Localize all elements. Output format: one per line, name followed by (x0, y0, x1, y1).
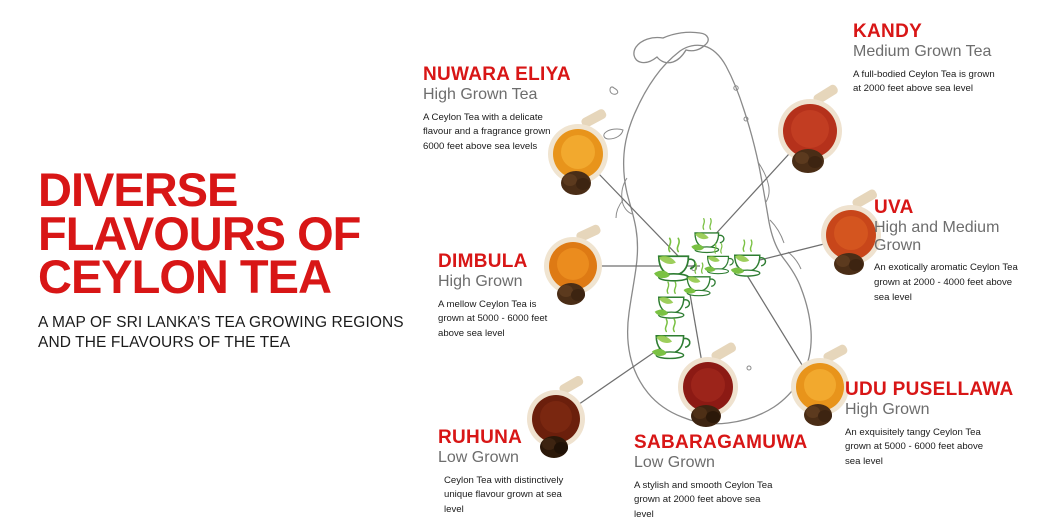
desc-line: 6000 feet above sea levels (423, 141, 537, 152)
desc-line: grown at 5000 - 6000 feet above (845, 441, 983, 452)
desc-line: A Ceylon Tea with a delicate (423, 112, 543, 123)
region-grown-dimbula: High Grown (438, 273, 598, 291)
region-label-nuwara-eliya: NUWARA ELIYA High Grown Tea A Ceylon Tea… (423, 65, 598, 155)
region-desc-sabaragamuwa: A stylish and smooth Ceylon Tea grown at… (634, 479, 819, 524)
desc-line: A full-bodied Ceylon Tea is grown (853, 69, 995, 80)
region-name-ruhuna: RUHUNA (438, 428, 608, 448)
connector-nuwara-eliya (597, 172, 680, 258)
region-name-nuwara-eliya: NUWARA ELIYA (423, 65, 598, 85)
growing-marker (654, 238, 695, 281)
region-name-dimbula: DIMBULA (438, 252, 598, 272)
region-label-ruhuna: RUHUNA Low Grown Ceylon Tea with distinc… (438, 428, 608, 518)
region-name-sabaragamuwa: SABARAGAMUWA (634, 433, 819, 453)
desc-line: grown at 5000 - 6000 feet (438, 313, 547, 324)
region-name-kandy: KANDY (853, 22, 1043, 42)
desc-line: level (444, 504, 464, 515)
desc-line: An exotically aromatic Ceylon Tea (874, 262, 1018, 273)
desc-line: flavour and a fragrance grown (423, 126, 550, 137)
tea-growing-markers (652, 219, 766, 359)
region-desc-uva: An exotically aromatic Ceylon Tea grown … (874, 261, 1044, 306)
region-grown-ruhuna: Low Grown (438, 449, 608, 467)
region-label-sabaragamuwa: SABARAGAMUWA Low Grown A stylish and smo… (634, 433, 819, 523)
tea-cup-kandy[interactable] (778, 83, 842, 173)
desc-line: level (634, 509, 654, 520)
region-label-dimbula: DIMBULA High Grown A mellow Ceylon Tea i… (438, 252, 598, 342)
region-desc-kandy: A full-bodied Ceylon Tea is grown at 200… (853, 68, 1043, 98)
region-name-uva: UVA (874, 198, 1044, 218)
desc-line: sea level (845, 456, 883, 467)
desc-line: A stylish and smooth Ceylon Tea (634, 480, 772, 491)
region-grown-kandy: Medium Grown Tea (853, 43, 1043, 61)
desc-line: sea level (874, 292, 912, 303)
tea-cup-uva[interactable] (821, 188, 881, 275)
region-grown-uva: High and Medium Grown (874, 219, 1044, 254)
tea-cup-udu-pusellawa[interactable] (791, 343, 849, 426)
grown-line: Grown (874, 237, 921, 254)
region-desc-dimbula: A mellow Ceylon Tea is grown at 5000 - 6… (438, 298, 598, 343)
region-label-udu-pusellawa: UDU PUSELLAWA High Grown An exquisitely … (845, 380, 1045, 470)
grown-line: High and Medium (874, 219, 999, 236)
region-desc-ruhuna: Ceylon Tea with distinctively unique fla… (444, 474, 608, 519)
desc-line: unique flavour grown at sea (444, 489, 562, 500)
desc-line: grown at 2000 feet above sea (634, 494, 760, 505)
growing-marker (731, 240, 766, 276)
region-name-udu-pusellawa: UDU PUSELLAWA (845, 380, 1045, 400)
desc-line: An exquisitely tangy Ceylon Tea (845, 427, 981, 438)
region-label-uva: UVA High and Medium Grown An exotically … (874, 198, 1044, 306)
growing-marker (652, 319, 690, 358)
region-label-kandy: KANDY Medium Grown Tea A full-bodied Cey… (853, 22, 1043, 97)
infographic-canvas: DIVERSE FLAVOURS OF CEYLON TEA A MAP OF … (0, 0, 1052, 530)
desc-line: at 2000 feet above sea level (853, 83, 973, 94)
region-grown-nuwara-eliya: High Grown Tea (423, 86, 598, 104)
growing-marker (655, 282, 690, 318)
region-desc-udu-pusellawa: An exquisitely tangy Ceylon Tea grown at… (845, 426, 1045, 471)
growing-marker (691, 219, 724, 253)
region-grown-udu-pusellawa: High Grown (845, 401, 1045, 419)
desc-line: A mellow Ceylon Tea is (438, 299, 536, 310)
region-grown-sabaragamuwa: Low Grown (634, 454, 819, 472)
tea-cup-sabaragamuwa[interactable] (678, 341, 738, 427)
desc-line: Ceylon Tea with distinctively (444, 475, 563, 486)
desc-line: above sea level (438, 328, 505, 339)
desc-line: grown at 2000 - 4000 feet above (874, 277, 1012, 288)
region-desc-nuwara-eliya: A Ceylon Tea with a delicate flavour and… (423, 111, 598, 156)
